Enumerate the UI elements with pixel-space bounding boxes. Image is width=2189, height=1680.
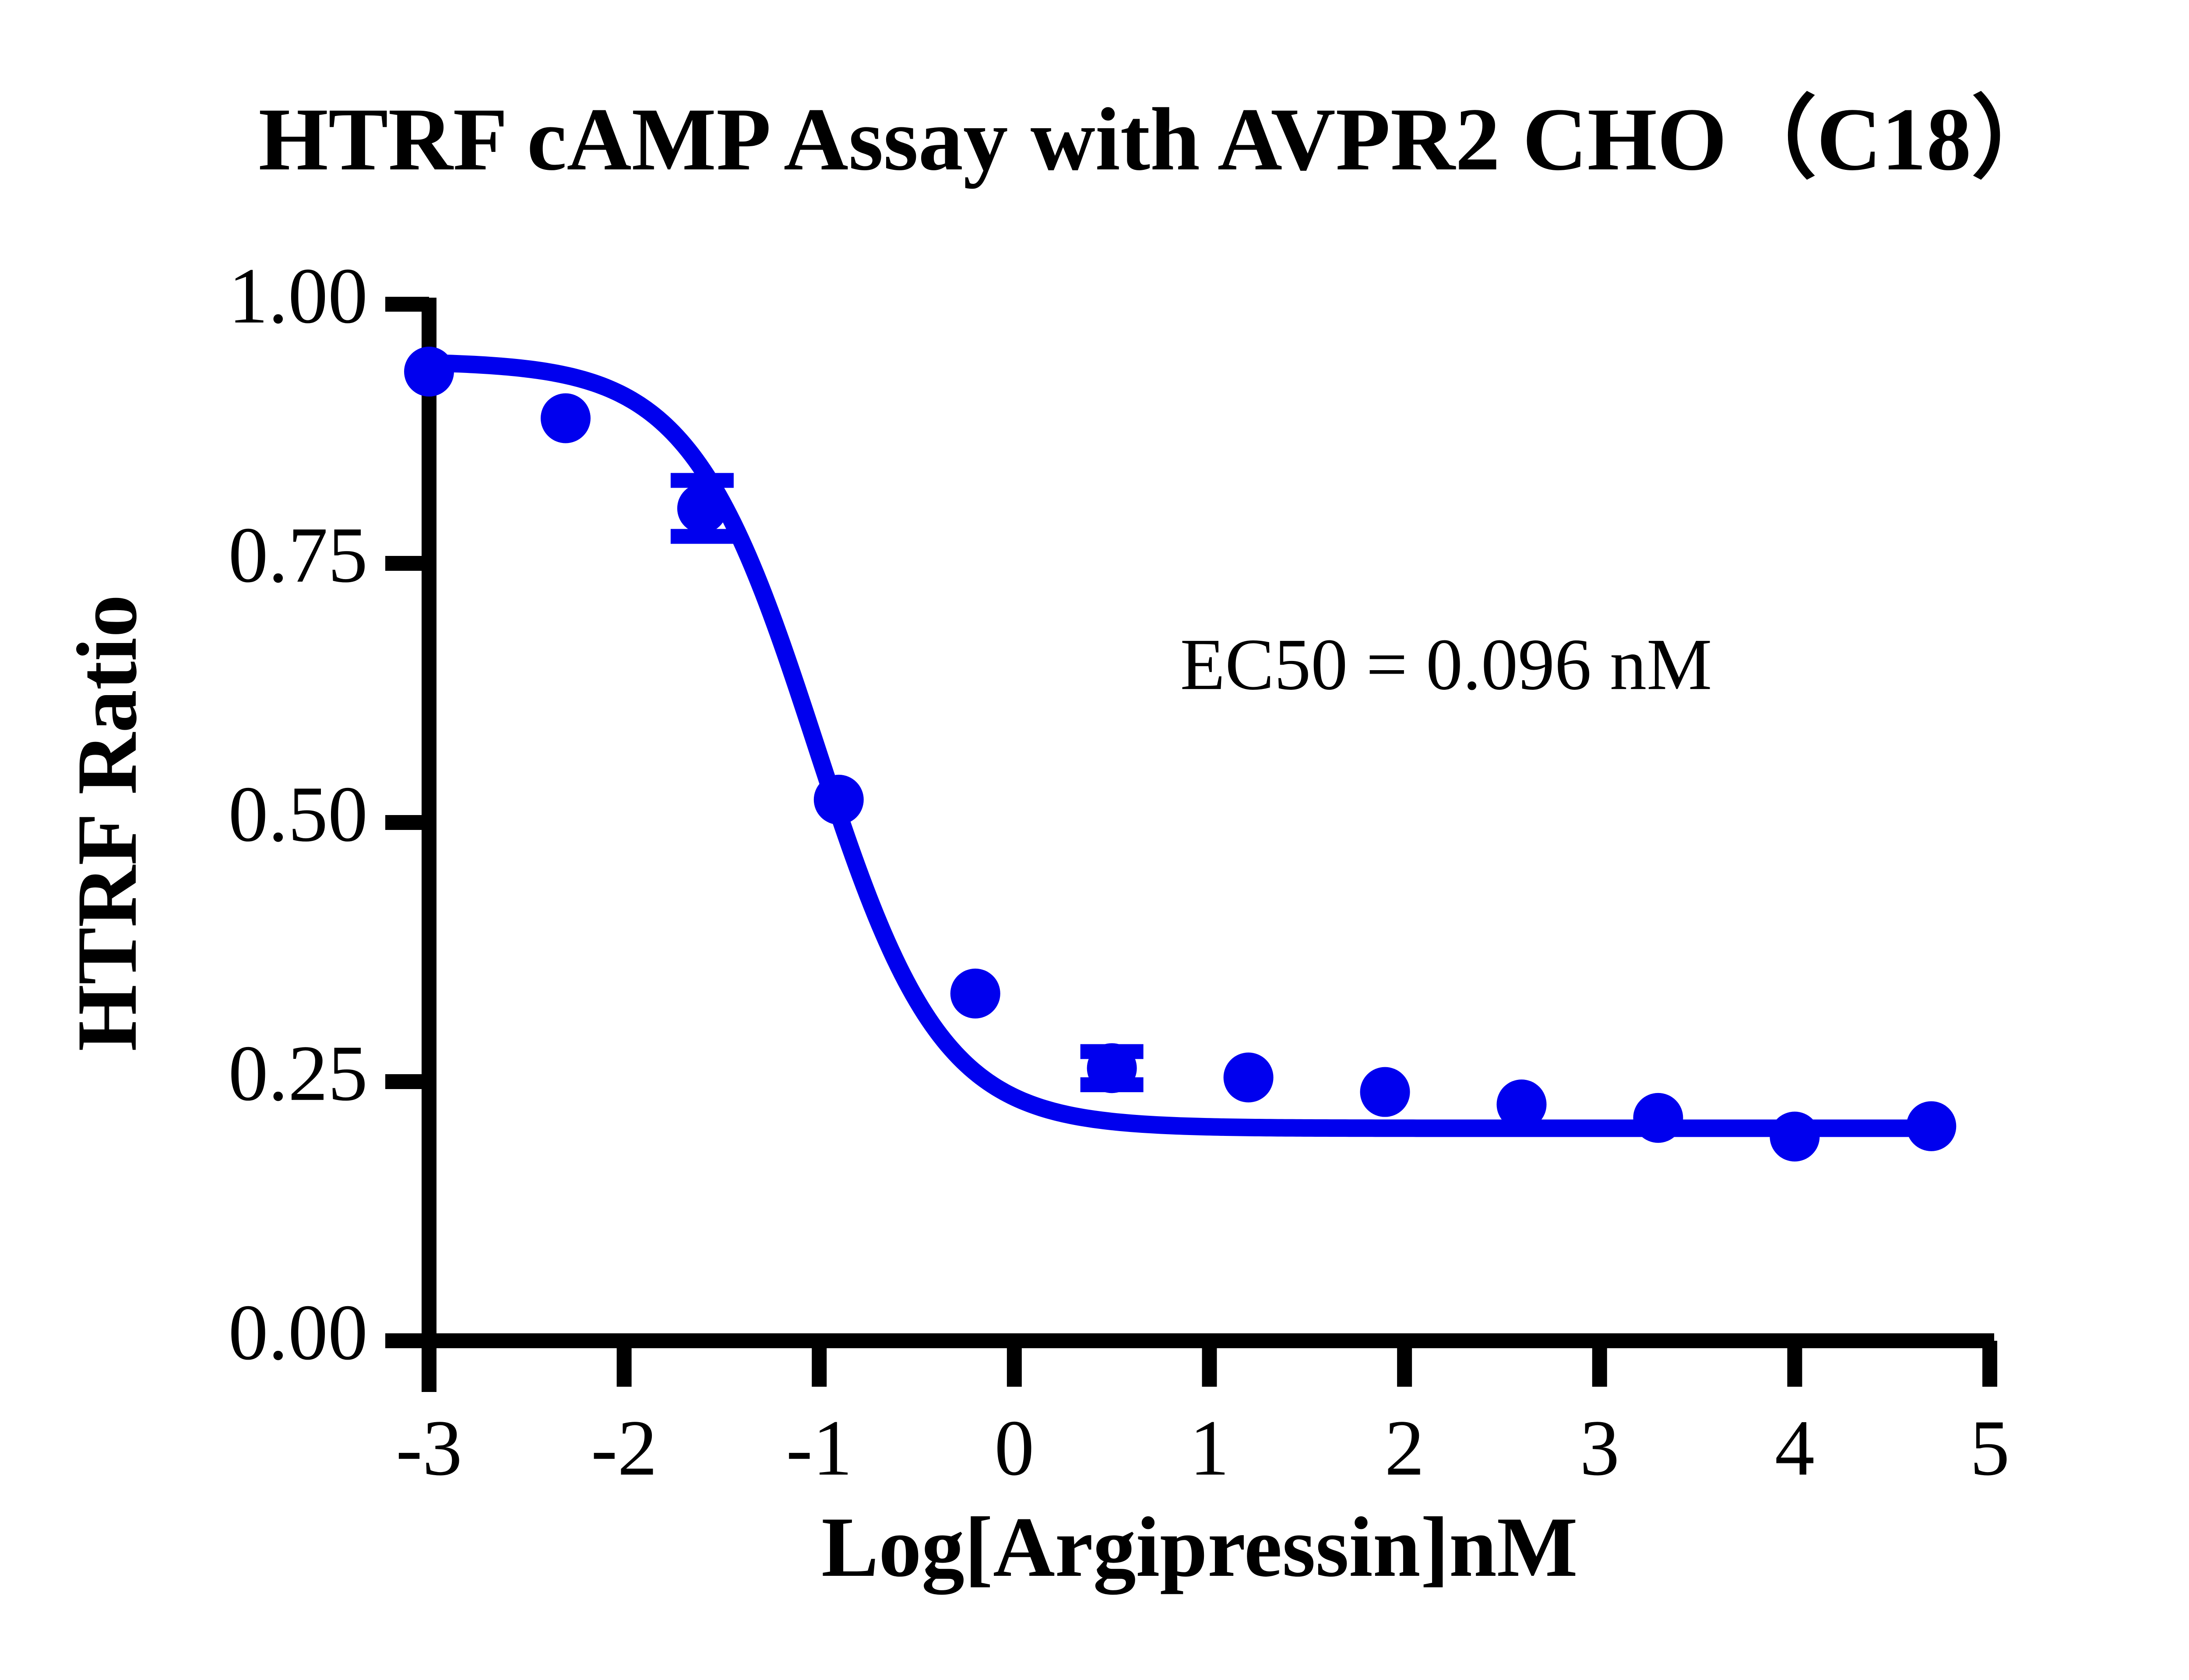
y-tick-label-0.00: 0.00 xyxy=(229,1289,368,1377)
data-point xyxy=(814,775,864,825)
data-point xyxy=(1087,1043,1137,1093)
data-point xyxy=(1770,1112,1819,1162)
data-point xyxy=(1224,1053,1274,1103)
x-axis-tick-labels: -3-2-1012345 xyxy=(396,1404,2010,1492)
chart-figure: HTRF cAMP Assay with AVPR2 CHO（C18） 1.00… xyxy=(0,0,2189,1680)
x-tick-label-1: 1 xyxy=(1190,1404,1229,1492)
ec50-annotation: EC50 = 0.096 nM xyxy=(1180,624,1712,705)
y-tick-label-0.25: 0.25 xyxy=(229,1030,368,1118)
data-point-markers xyxy=(404,347,1956,1162)
y-tick-label-1.00: 1.00 xyxy=(229,252,368,340)
data-point xyxy=(950,969,1000,1019)
x-tick-label-2: 2 xyxy=(1385,1404,1425,1492)
data-point xyxy=(677,483,727,533)
x-axis-title: Log[Argipressin]nM xyxy=(821,1500,1578,1595)
data-point xyxy=(1906,1101,1956,1151)
y-tick-label-0.50: 0.50 xyxy=(229,770,368,858)
x-tick-label-3: 3 xyxy=(1580,1404,1619,1492)
data-point xyxy=(1360,1067,1410,1117)
data-point xyxy=(1633,1093,1683,1143)
x-tick-label--2: -2 xyxy=(591,1404,658,1492)
x-tick-label--3: -3 xyxy=(396,1404,462,1492)
fitted-curve xyxy=(429,363,1931,1128)
y-axis-title: HTRF Ratio xyxy=(60,594,155,1051)
x-tick-label--1: -1 xyxy=(786,1404,852,1492)
data-point xyxy=(541,393,591,443)
y-tick-label-0.75: 0.75 xyxy=(229,511,368,599)
x-tick-label-0: 0 xyxy=(994,1404,1034,1492)
y-axis-tick-labels: 1.000.750.500.250.00 xyxy=(229,252,368,1377)
x-tick-label-4: 4 xyxy=(1775,1404,1815,1492)
plot-area: 1.000.750.500.250.00 -3-2-1012345 EC50 =… xyxy=(0,0,2189,1680)
data-point xyxy=(1497,1079,1547,1129)
data-point xyxy=(404,347,454,397)
x-tick-label-5: 5 xyxy=(1970,1404,2010,1492)
